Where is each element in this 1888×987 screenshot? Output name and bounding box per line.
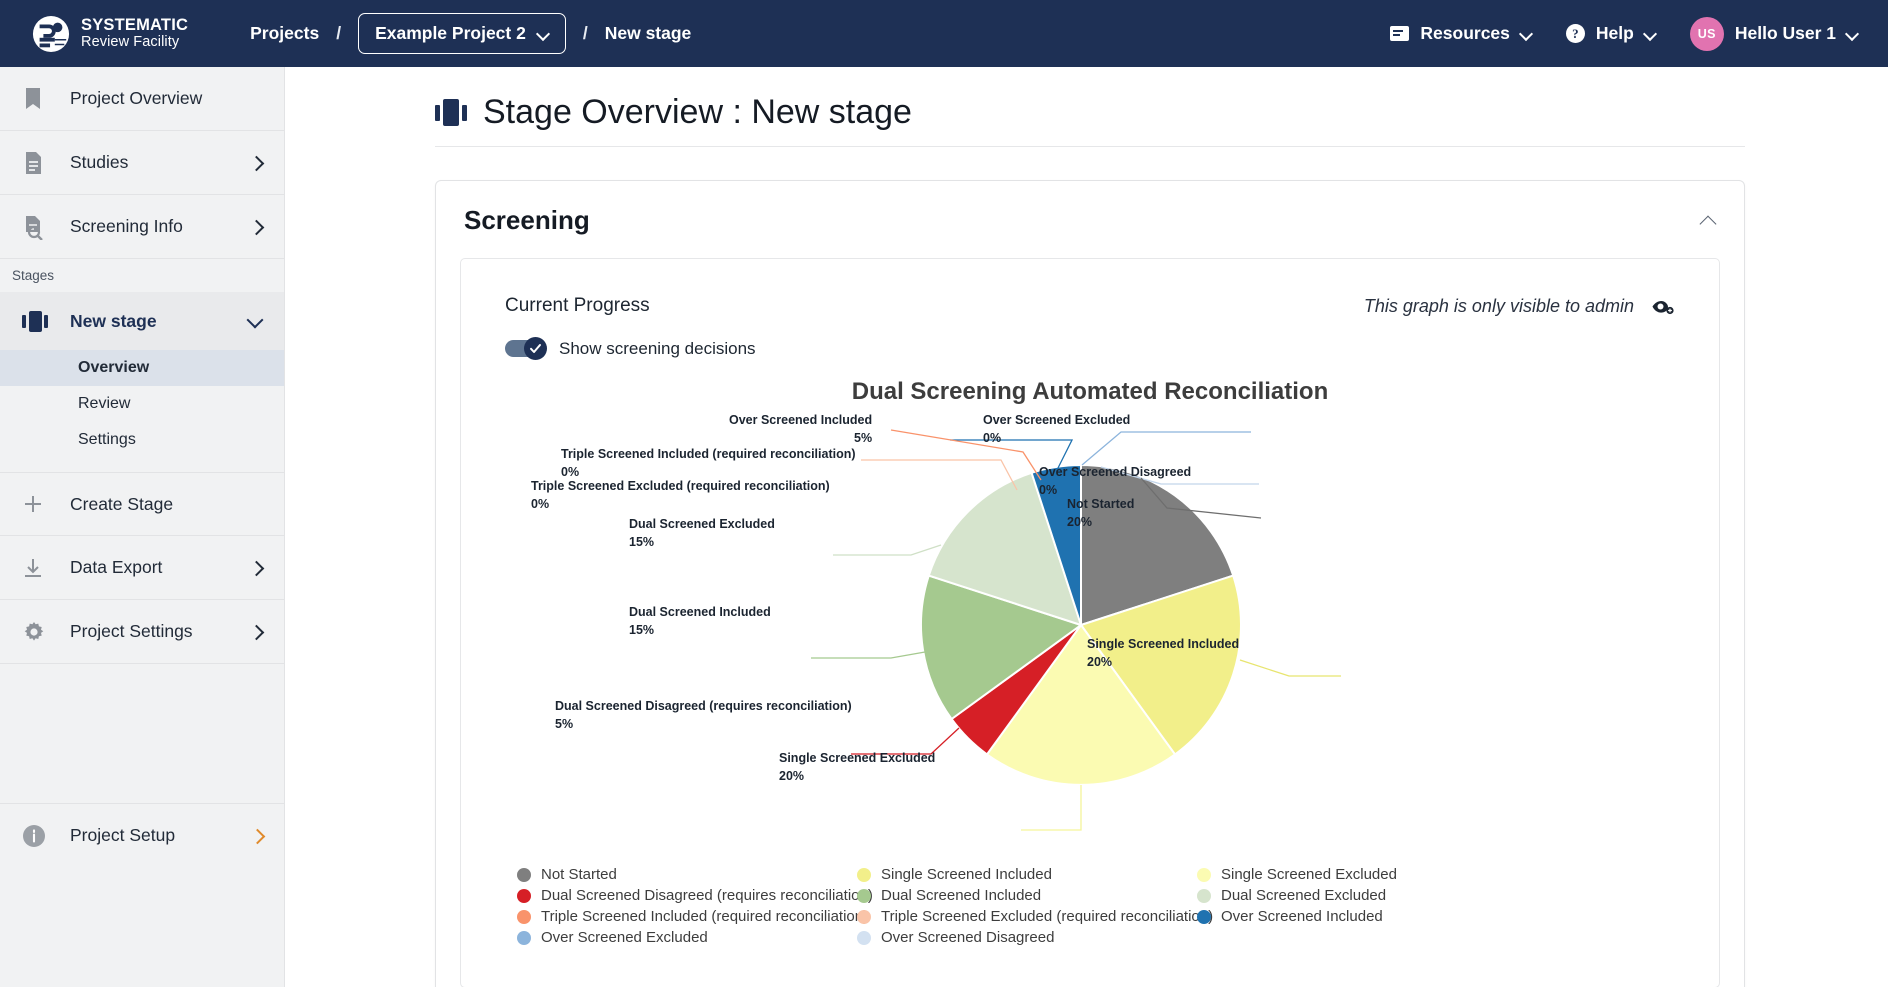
callout-value: 0%	[1039, 483, 1057, 497]
callout-value: 0%	[983, 431, 1001, 445]
screening-card-header[interactable]: Screening	[436, 181, 1744, 258]
sidebar-item-review[interactable]: Review	[0, 386, 284, 422]
top-right-actions: Resources ? Help US Hello User 1	[1390, 17, 1858, 51]
legend-item[interactable]: Dual Screened Disagreed (requires reconc…	[517, 887, 847, 904]
callout-dual-screened-included: Dual Screened Included 15%	[629, 604, 771, 640]
callout-label: Triple Screened Included (required recon…	[561, 447, 856, 461]
sidebar-item-label: New stage	[70, 311, 248, 332]
chevron-right-icon	[250, 157, 262, 169]
legend-label: Single Screened Excluded	[1221, 866, 1397, 883]
show-screening-decisions-row: Show screening decisions	[461, 317, 1719, 360]
legend-item[interactable]: Not Started	[517, 866, 847, 883]
legend-label: Over Screened Included	[1221, 908, 1383, 925]
callout-value: 15%	[629, 623, 654, 637]
sidebar-item-project-overview[interactable]: Project Overview	[0, 67, 284, 131]
callout-single-screened-excluded: Single Screened Excluded 20%	[779, 750, 935, 786]
page-title: Stage Overview : New stage	[483, 93, 912, 132]
sidebar-item-project-setup[interactable]: Project Setup	[0, 803, 285, 867]
current-progress-label: Current Progress	[505, 295, 650, 317]
legend-item[interactable]: Dual Screened Excluded	[1197, 887, 1527, 904]
toggle-knob	[524, 337, 547, 360]
sidebar-item-studies[interactable]: Studies	[0, 131, 284, 195]
callout-triple-screened-included: Triple Screened Included (required recon…	[561, 446, 856, 482]
callout-value: 0%	[531, 497, 549, 511]
help-icon: ?	[1566, 24, 1585, 43]
sidebar-item-data-export[interactable]: Data Export	[0, 536, 284, 600]
sidebar-subitem-label: Overview	[78, 359, 149, 377]
callout-label: Dual Screened Excluded	[629, 517, 775, 531]
user-greeting: Hello User 1	[1735, 23, 1836, 44]
card-title: Screening	[464, 205, 590, 236]
sidebar-item-label: Create Stage	[70, 494, 262, 515]
callout-triple-screened-excluded: Triple Screened Excluded (required recon…	[531, 478, 830, 514]
chevron-right-icon	[250, 626, 262, 638]
callout-label: Dual Screened Disagreed (requires reconc…	[555, 699, 852, 713]
help-menu[interactable]: ? Help	[1566, 23, 1656, 44]
document-search-icon	[22, 214, 70, 240]
callout-label: Not Started	[1067, 497, 1134, 511]
callout-value: 15%	[629, 535, 654, 549]
breadcrumb-projects[interactable]: Projects	[250, 23, 319, 44]
pie-chart: Dual Screening Automated Reconciliation	[461, 360, 1719, 960]
legend-item[interactable]: Over Screened Included	[1197, 908, 1527, 925]
top-navigation-bar: SYSTEMATIC Review Facility Projects / Ex…	[0, 0, 1888, 67]
chevron-down-icon	[248, 314, 262, 328]
callout-not-started: Not Started 20%	[1067, 496, 1134, 532]
legend-item[interactable]: Dual Screened Included	[857, 887, 1187, 904]
legend-swatch	[857, 931, 871, 945]
legend-swatch	[1197, 910, 1211, 924]
info-icon	[22, 824, 70, 848]
callout-over-screened-excluded: Over Screened Excluded 0%	[983, 412, 1130, 448]
chart-legend: Not Started Single Screened Included Sin…	[517, 866, 1697, 946]
legend-swatch	[517, 889, 531, 903]
sidebar-item-label: Screening Info	[70, 216, 250, 237]
resources-label: Resources	[1420, 23, 1510, 44]
sidebar-item-screening-info[interactable]: Screening Info	[0, 195, 284, 259]
sidebar-item-label: Project Overview	[70, 88, 262, 109]
project-selector-dropdown[interactable]: Example Project 2	[358, 13, 566, 54]
sidebar-section-label: Stages	[0, 259, 284, 292]
callout-value: 5%	[854, 431, 872, 445]
legend-label: Over Screened Excluded	[541, 929, 708, 946]
legend-item[interactable]: Single Screened Included	[857, 866, 1187, 883]
stage-icon	[435, 99, 467, 126]
stage-icon	[22, 311, 70, 332]
chevron-down-icon	[1645, 28, 1656, 39]
document-icon	[22, 150, 70, 176]
main-content: Stage Overview : New stage Screening Cur…	[285, 67, 1888, 987]
legend-swatch	[857, 910, 871, 924]
app-root: SYSTEMATIC Review Facility Projects / Ex…	[0, 0, 1888, 987]
legend-swatch	[517, 931, 531, 945]
breadcrumb-separator-2: /	[583, 23, 588, 44]
brand-line-1: SYSTEMATIC	[81, 17, 188, 34]
chevron-down-icon	[538, 28, 549, 39]
legend-swatch	[857, 889, 871, 903]
legend-swatch	[517, 868, 531, 882]
chevron-right-icon	[251, 830, 263, 842]
page-title-row: Stage Overview : New stage	[435, 93, 1745, 147]
admin-note-text: This graph is only visible to admin	[1364, 296, 1634, 317]
admin-visibility-note: This graph is only visible to admin	[1364, 296, 1675, 317]
legend-item[interactable]: Triple Screened Included (required recon…	[517, 908, 847, 925]
resources-menu[interactable]: Resources	[1390, 23, 1532, 44]
bookmark-icon	[22, 86, 70, 112]
download-icon	[22, 557, 70, 579]
legend-label: Not Started	[541, 866, 617, 883]
callout-label: Single Screened Included	[1087, 637, 1239, 651]
breadcrumb: Projects / Example Project 2 / New stage	[250, 13, 691, 54]
callout-dual-screened-disagreed: Dual Screened Disagreed (requires reconc…	[555, 698, 852, 734]
chevron-right-icon	[250, 221, 262, 233]
sidebar-item-label: Project Setup	[70, 825, 251, 846]
sidebar-spacer	[0, 458, 284, 472]
screening-card: Screening Current Progress This graph is…	[435, 180, 1745, 987]
sidebar-item-label: Studies	[70, 152, 250, 173]
legend-swatch	[1197, 889, 1211, 903]
brand-line-2: Review Facility	[81, 35, 188, 50]
sidebar-item-overview[interactable]: Overview	[0, 350, 284, 386]
callout-label: Single Screened Excluded	[779, 751, 935, 765]
sidebar-item-label: Project Settings	[70, 621, 250, 642]
sidebar-item-new-stage[interactable]: New stage	[0, 292, 284, 350]
legend-swatch	[857, 868, 871, 882]
callout-label: Over Screened Disagreed	[1039, 465, 1191, 479]
callout-label: Dual Screened Included	[629, 605, 771, 619]
eye-off-icon[interactable]	[1651, 298, 1675, 315]
sidebar-item-create-stage[interactable]: Create Stage	[0, 472, 284, 536]
callout-over-screened-included: Over Screened Included 5%	[729, 412, 872, 448]
chevron-down-icon	[1521, 28, 1532, 39]
plus-icon	[22, 493, 70, 515]
legend-item[interactable]: Triple Screened Excluded (required recon…	[857, 908, 1187, 925]
help-label: Help	[1596, 23, 1634, 44]
show-screening-decisions-toggle[interactable]	[505, 337, 547, 360]
callout-single-screened-included: Single Screened Included 20%	[1087, 636, 1239, 672]
legend-swatch	[517, 910, 531, 924]
callout-value: 20%	[1067, 515, 1092, 529]
chevron-down-icon	[1847, 28, 1858, 39]
progress-panel: Current Progress This graph is only visi…	[460, 258, 1720, 987]
legend-swatch	[1197, 868, 1211, 882]
sidebar: Project Overview Studies Screening Info …	[0, 67, 285, 987]
sidebar-subitem-label: Settings	[78, 431, 136, 449]
callout-label: Over Screened Included	[729, 413, 872, 427]
sidebar-item-label: Data Export	[70, 557, 250, 578]
avatar: US	[1690, 17, 1724, 51]
callout-value: 0%	[561, 465, 579, 479]
sidebar-bottom-group: Project Setup	[0, 803, 285, 867]
progress-header-row: Current Progress This graph is only visi…	[461, 259, 1719, 317]
legend-item[interactable]: Over Screened Excluded	[517, 929, 847, 946]
sidebar-subitem-label: Review	[78, 395, 130, 413]
sidebar-item-settings[interactable]: Settings	[0, 422, 284, 458]
callout-value: 20%	[1087, 655, 1112, 669]
legend-label: Dual Screened Excluded	[1221, 887, 1386, 904]
legend-label: Dual Screened Included	[881, 887, 1041, 904]
folder-icon	[1390, 26, 1409, 41]
gear-icon	[22, 620, 70, 644]
sidebar-item-project-settings[interactable]: Project Settings	[0, 600, 284, 664]
callout-over-screened-disagreed: Over Screened Disagreed 0%	[1039, 464, 1191, 500]
legend-label: Dual Screened Disagreed (requires reconc…	[541, 887, 873, 904]
legend-label: Triple Screened Excluded (required recon…	[881, 908, 1213, 925]
srf-logo-icon	[32, 15, 70, 53]
user-menu[interactable]: US Hello User 1	[1690, 17, 1858, 51]
chevron-up-icon[interactable]	[1700, 213, 1716, 229]
legend-label: Over Screened Disagreed	[881, 929, 1054, 946]
brand-logo-block[interactable]: SYSTEMATIC Review Facility	[32, 15, 188, 53]
breadcrumb-separator-1: /	[336, 23, 341, 44]
chevron-right-icon	[250, 562, 262, 574]
breadcrumb-stage[interactable]: New stage	[605, 23, 692, 44]
callout-dual-screened-excluded: Dual Screened Excluded 15%	[629, 516, 775, 552]
callout-label: Triple Screened Excluded (required recon…	[531, 479, 830, 493]
legend-label: Triple Screened Included (required recon…	[541, 908, 868, 925]
toggle-label: Show screening decisions	[559, 339, 756, 359]
callout-value: 5%	[555, 717, 573, 731]
legend-label: Single Screened Included	[881, 866, 1052, 883]
legend-item[interactable]: Single Screened Excluded	[1197, 866, 1527, 883]
legend-item[interactable]: Over Screened Disagreed	[857, 929, 1187, 946]
callout-value: 20%	[779, 769, 804, 783]
brand-text: SYSTEMATIC Review Facility	[81, 17, 188, 50]
callout-label: Over Screened Excluded	[983, 413, 1130, 427]
project-selector-label: Example Project 2	[375, 23, 526, 44]
